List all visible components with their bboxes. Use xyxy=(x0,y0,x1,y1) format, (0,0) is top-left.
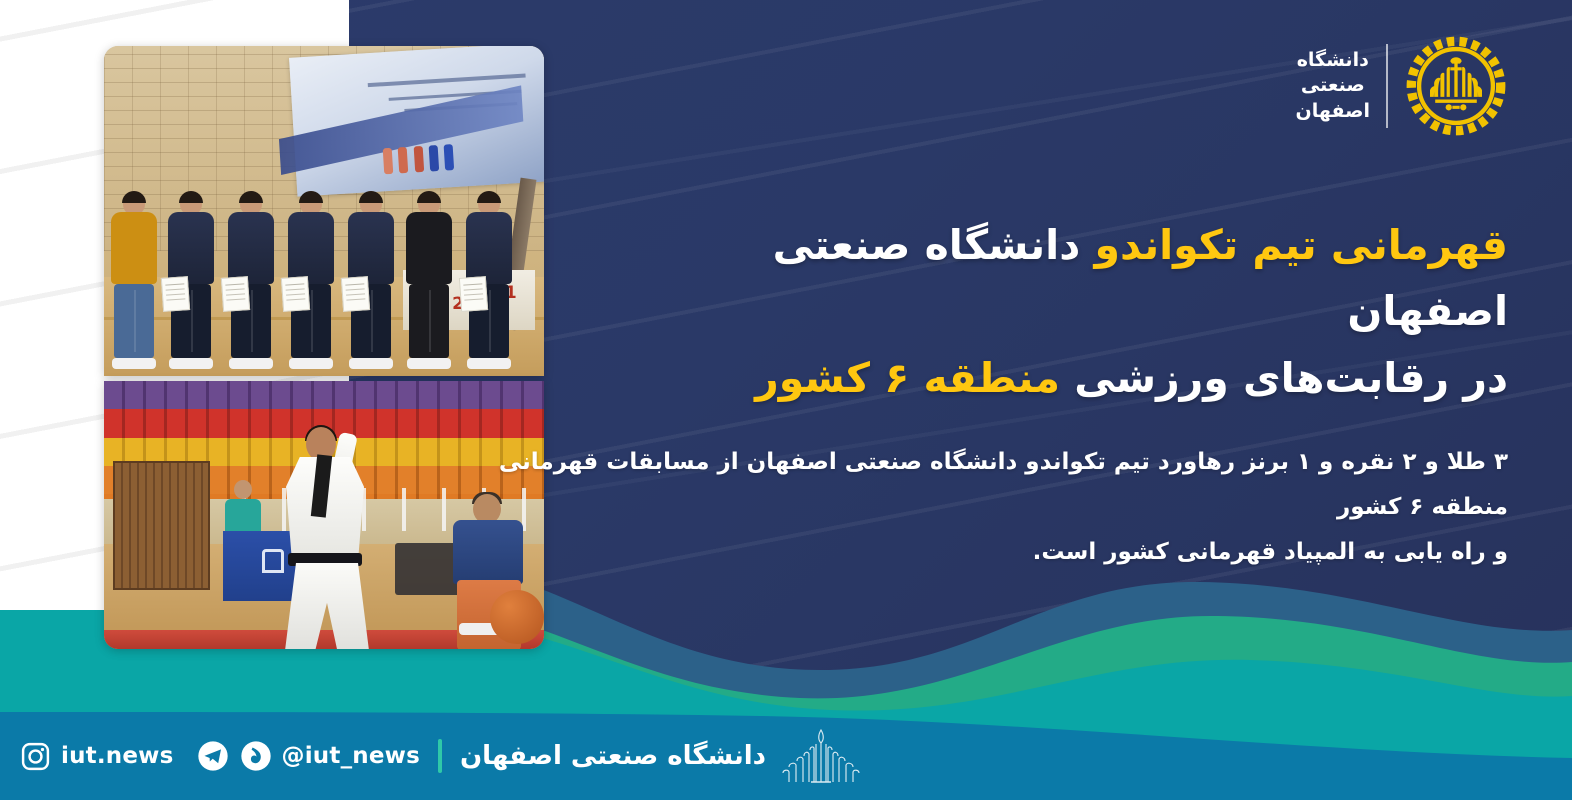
iut-gear-fountain-logo-icon xyxy=(1404,34,1508,138)
brand-line-3: اصفهان xyxy=(1296,99,1370,124)
brand-wordmark: دانشگاه صنعتی اصفهان xyxy=(1296,48,1370,123)
person-3 xyxy=(226,191,276,369)
body-line-2: و راه یابی به المپیاد قهرمانی کشور است. xyxy=(498,530,1508,575)
instagram-handle[interactable]: iut.news xyxy=(61,743,174,769)
athlete-figure xyxy=(280,427,376,631)
headline-line2-highlight: منطقه ۶ کشور xyxy=(755,354,1060,402)
event-banner xyxy=(289,46,544,196)
brand-line-1: دانشگاه xyxy=(1296,48,1370,73)
team-podium-photo: 1 2 xyxy=(104,46,544,376)
headline-line1-highlight: قهرمانی تیم تکواندو xyxy=(1095,221,1508,269)
instagram-link[interactable]: iut.news xyxy=(18,739,174,773)
messenger-handle[interactable]: @iut_news xyxy=(282,743,420,769)
brand-divider xyxy=(1386,44,1388,128)
footer-divider xyxy=(438,739,442,773)
wooden-door xyxy=(113,461,210,590)
instagram-icon[interactable] xyxy=(18,739,52,773)
person-6 xyxy=(464,191,514,369)
person-5 xyxy=(346,191,396,369)
body-paragraph: ۳ طلا و ۲ نقره و ۱ برنز رهاورد تیم تکوان… xyxy=(498,440,1508,575)
person-2 xyxy=(166,191,216,369)
poster-canvas: 1 2 xyxy=(0,0,1572,800)
bale-icon[interactable] xyxy=(239,739,273,773)
headline-line2-rest: در رقابت‌های ورزشی xyxy=(1060,354,1508,402)
person-4 xyxy=(286,191,336,369)
body-line-1: ۳ طلا و ۲ نقره و ۱ برنز رهاورد تیم تکوان… xyxy=(498,440,1508,530)
iut-fountain-mark-icon xyxy=(780,728,862,784)
person-1 xyxy=(109,191,159,369)
basketball xyxy=(490,590,544,644)
taekwondo-athlete-photo xyxy=(104,381,544,649)
page-title: قهرمانی تیم تکواندو دانشگاه صنعتی اصفهان… xyxy=(688,212,1508,411)
headline-line-1: قهرمانی تیم تکواندو دانشگاه صنعتی اصفهان xyxy=(688,212,1508,345)
brand-lockup: دانشگاه صنعتی اصفهان xyxy=(1296,34,1508,138)
person-coach xyxy=(404,191,454,369)
brand-line-2: صنعتی xyxy=(1296,73,1370,98)
footer-bar: iut.news @iut_news دانشگاه صنعتی اصفهان xyxy=(0,712,1572,800)
messenger-links[interactable]: @iut_news xyxy=(196,739,420,773)
telegram-icon[interactable] xyxy=(196,739,230,773)
footer-university-name: دانشگاه صنعتی اصفهان xyxy=(460,741,766,771)
headline-line-2: در رقابت‌های ورزشی منطقه ۶ کشور xyxy=(688,345,1508,411)
